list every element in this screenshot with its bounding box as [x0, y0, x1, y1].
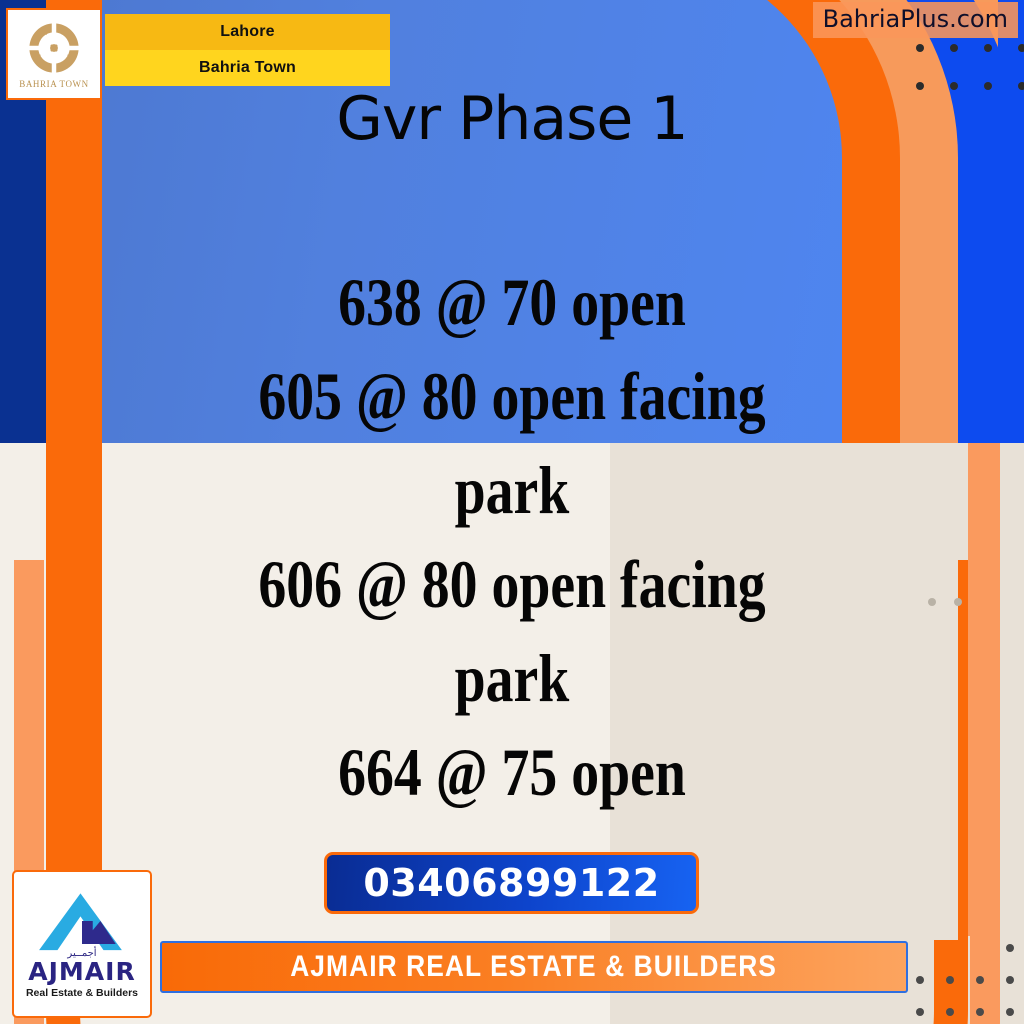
dot-grid-bottom-right — [916, 944, 1024, 1024]
dot-grid-middle-right — [928, 598, 980, 618]
society-label: Bahria Town — [105, 50, 390, 86]
listing-lines: 638 @ 70 open 605 @ 80 open facing park … — [141, 255, 882, 819]
bahria-town-mandala-icon — [26, 20, 82, 76]
ajmair-triangle-icon — [36, 890, 128, 952]
page-title: Gvr Phase 1 — [0, 84, 1024, 154]
promo-poster: BAHRIA TOWN Lahore Bahria Town BahriaPlu… — [0, 0, 1024, 1024]
agency-banner-text: AJMAIR REAL ESTATE & BUILDERS — [291, 950, 778, 984]
phone-number-badge[interactable]: 03406899122 — [324, 852, 699, 914]
site-url[interactable]: BahriaPlus.com — [813, 2, 1018, 38]
orange-right-bar — [968, 443, 1000, 936]
listing-line: 606 @ 80 open facing — [141, 537, 882, 631]
ajmair-logo-name: AJMAIR — [28, 959, 135, 984]
listing-line: 638 @ 70 open — [141, 255, 882, 349]
cream-right-edge — [1000, 443, 1024, 936]
listing-line: park — [141, 631, 882, 725]
ajmair-logo-tagline: Real Estate & Builders — [26, 987, 138, 999]
listing-line: 664 @ 75 open — [141, 725, 882, 819]
listing-line: 605 @ 80 open facing — [141, 349, 882, 443]
ajmair-logo-card: أجمــير AJMAIR Real Estate & Builders — [12, 870, 152, 1018]
bahria-town-logo-text: BAHRIA TOWN — [19, 79, 89, 89]
city-label: Lahore — [105, 14, 390, 50]
bahria-town-logo-card: BAHRIA TOWN — [6, 8, 102, 100]
agency-banner: AJMAIR REAL ESTATE & BUILDERS — [160, 941, 908, 993]
location-header: Lahore Bahria Town — [105, 14, 390, 86]
listing-line: park — [141, 443, 882, 537]
